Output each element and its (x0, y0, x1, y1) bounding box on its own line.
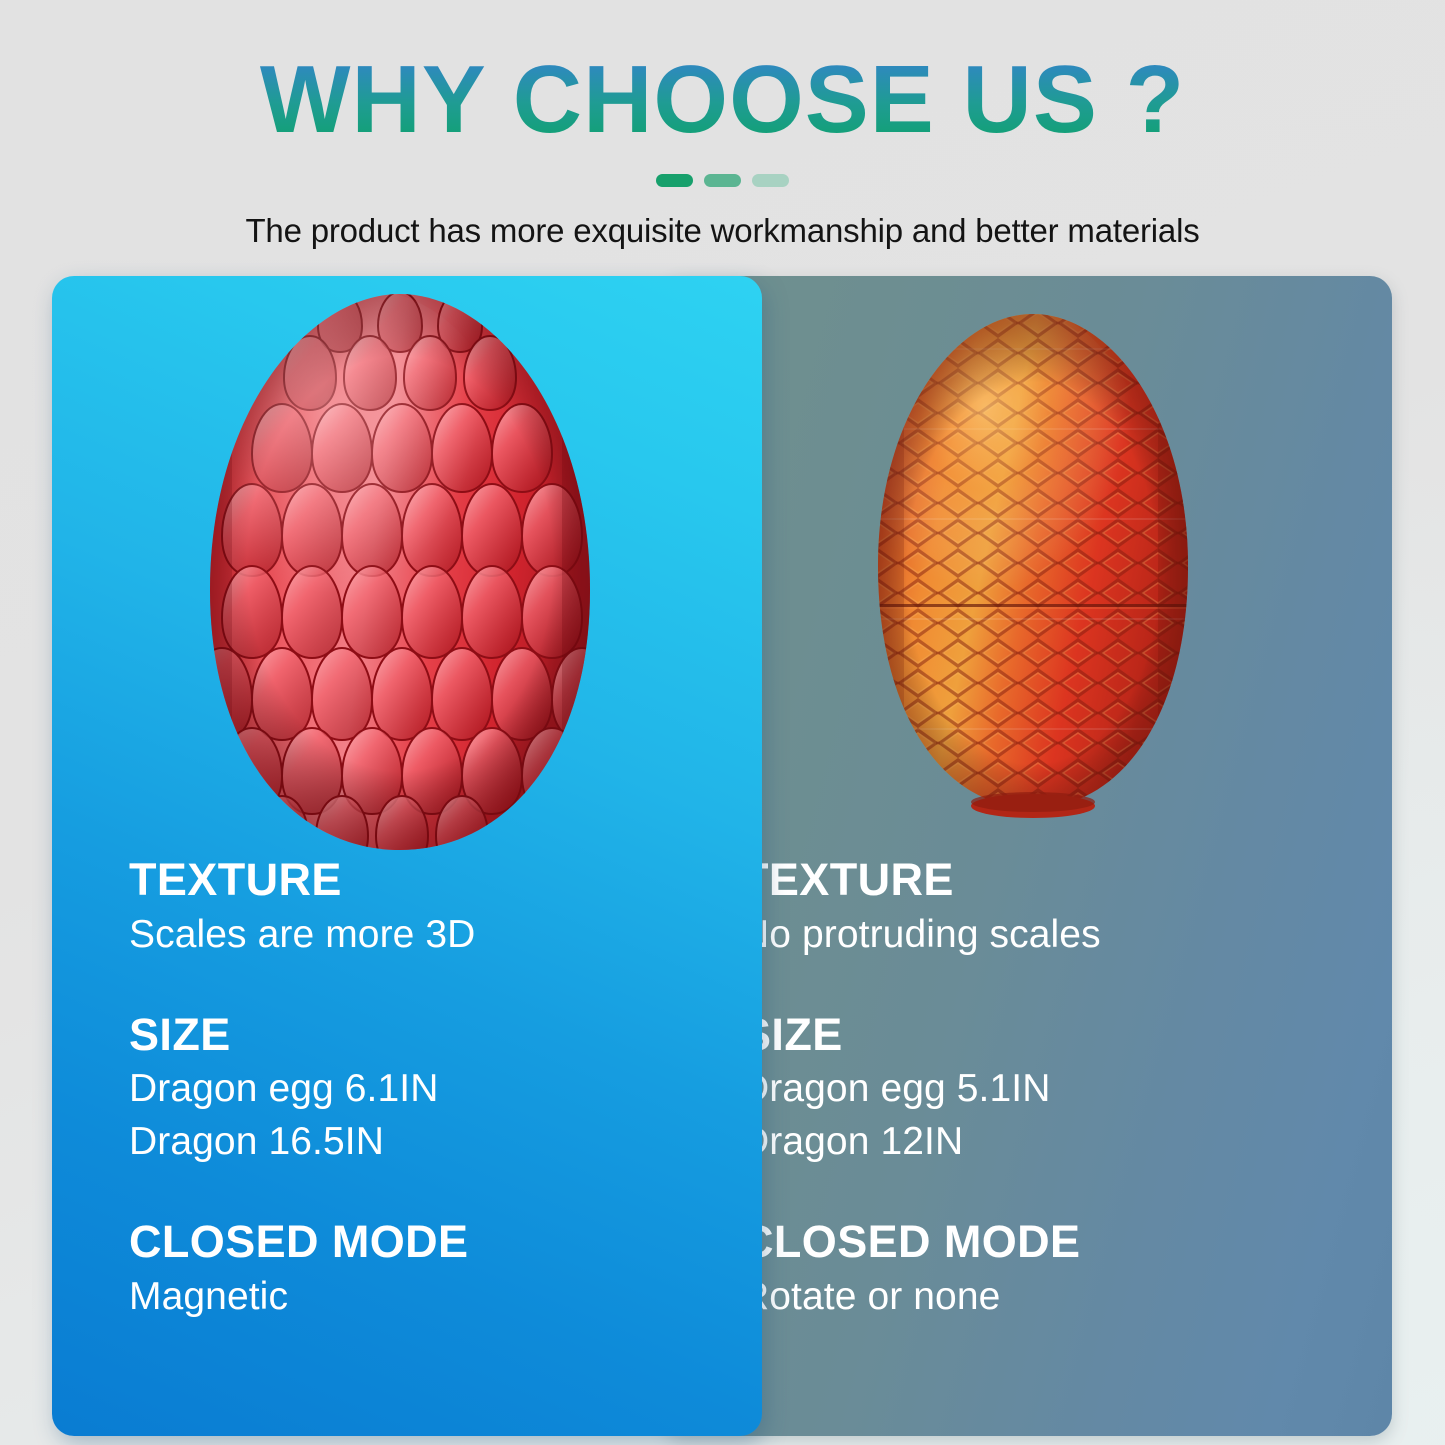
product-image-ours (52, 276, 762, 876)
spec-value-closed-mode: Rotate or none (741, 1271, 1392, 1323)
dragon-egg-flat-scales-icon (858, 308, 1208, 838)
divider-dash-2 (704, 174, 741, 187)
spec-block-size: SIZE Dragon egg 5.1IN Dragon 12IN (741, 1011, 1392, 1168)
header: WHY CHOOSE US ? The product has more exq… (0, 0, 1445, 250)
spec-block-texture: TEXTURE Scales are more 3D (129, 856, 762, 961)
spec-label-closed-mode: CLOSED MODE (741, 1218, 1392, 1267)
spec-label-closed-mode: CLOSED MODE (129, 1218, 762, 1267)
spec-block-closed-mode: CLOSED MODE Rotate or none (741, 1218, 1392, 1323)
spec-block-texture: TEXTURE No protruding scales (741, 856, 1392, 961)
comparison-panels: TEXTURE No protruding scales SIZE Dragon… (0, 276, 1445, 1445)
spec-list-ours: TEXTURE Scales are more 3D SIZE Dragon e… (52, 856, 762, 1323)
spec-block-closed-mode: CLOSED MODE Magnetic (129, 1218, 762, 1323)
spec-value-size-dragon: Dragon 16.5IN (129, 1116, 762, 1168)
infographic-canvas: WHY CHOOSE US ? The product has more exq… (0, 0, 1445, 1445)
spec-label-size: SIZE (741, 1011, 1392, 1060)
spec-value-texture: Scales are more 3D (129, 909, 762, 961)
divider-dash-3 (752, 174, 789, 187)
spec-value-closed-mode: Magnetic (129, 1271, 762, 1323)
spec-value-size-egg: Dragon egg 6.1IN (129, 1063, 762, 1115)
spec-list-other: TEXTURE No protruding scales SIZE Dragon… (663, 856, 1392, 1323)
spec-value-texture: No protruding scales (741, 909, 1392, 961)
spec-label-size: SIZE (129, 1011, 762, 1060)
page-title: WHY CHOOSE US ? (0, 0, 1445, 148)
dragon-egg-protruding-scales-icon (190, 290, 610, 860)
comparison-panel-other-product: TEXTURE No protruding scales SIZE Dragon… (663, 276, 1392, 1436)
spec-label-texture: TEXTURE (741, 856, 1392, 905)
spec-value-size-dragon: Dragon 12IN (741, 1116, 1392, 1168)
divider-dash-1 (656, 174, 693, 187)
page-subtitle: The product has more exquisite workmansh… (0, 212, 1445, 250)
comparison-panel-our-product: TEXTURE Scales are more 3D SIZE Dragon e… (52, 276, 762, 1436)
spec-label-texture: TEXTURE (129, 856, 762, 905)
product-image-other (663, 276, 1392, 876)
spec-block-size: SIZE Dragon egg 6.1IN Dragon 16.5IN (129, 1011, 762, 1168)
divider-dashes (0, 174, 1445, 187)
spec-value-size-egg: Dragon egg 5.1IN (741, 1063, 1392, 1115)
